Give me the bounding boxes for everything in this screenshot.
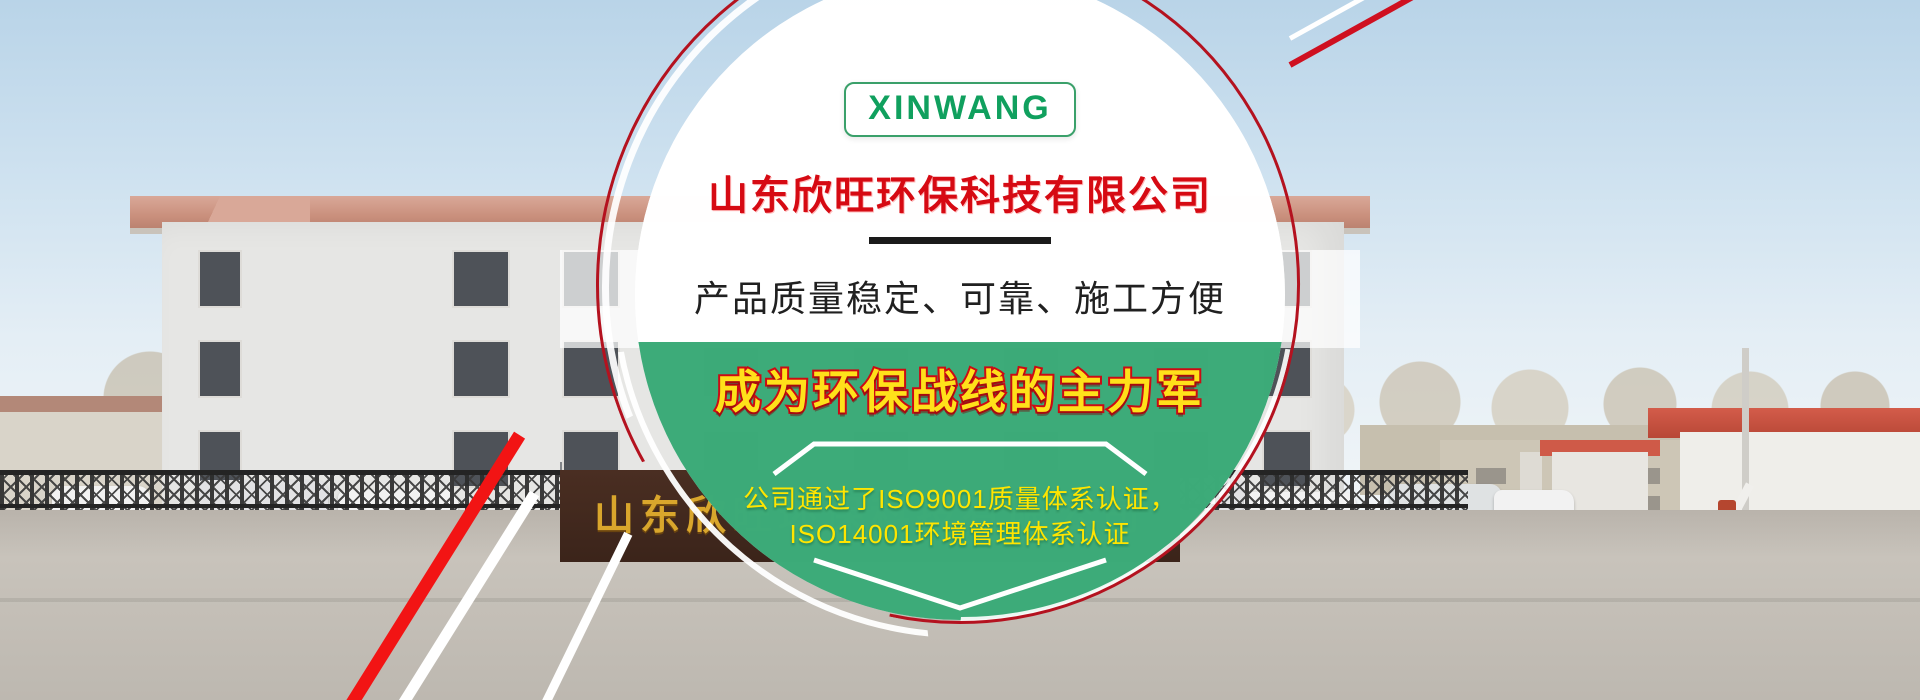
decor-chevron-top xyxy=(770,440,1150,478)
certification-line-1: 公司通过了ISO9001质量体系认证， xyxy=(560,482,1360,517)
company-name: 山东欣旺环保科技有限公司 xyxy=(560,163,1360,221)
tagline: 产品质量稳定、可靠、施工方便 xyxy=(560,270,1360,322)
brand-badge: XINWANG xyxy=(844,82,1075,137)
certification-block: 公司通过了ISO9001质量体系认证， ISO14001环境管理体系认证 xyxy=(560,482,1360,552)
decor-chevron-bottom xyxy=(810,556,1110,612)
hero-banner: 山东欣旺环保科技有限公司 XINWANG 山东欣旺环保科技有限公司 产品质量稳定… xyxy=(0,0,1920,700)
banner-content: XINWANG 山东欣旺环保科技有限公司 产品质量稳定、可靠、施工方便 成为环保… xyxy=(560,0,1360,700)
headline: 成为环保战线的主力军 xyxy=(560,356,1360,422)
brand-badge-label: XINWANG xyxy=(868,89,1051,127)
title-divider-rule xyxy=(869,237,1051,244)
certification-line-2: ISO14001环境管理体系认证 xyxy=(560,517,1360,552)
